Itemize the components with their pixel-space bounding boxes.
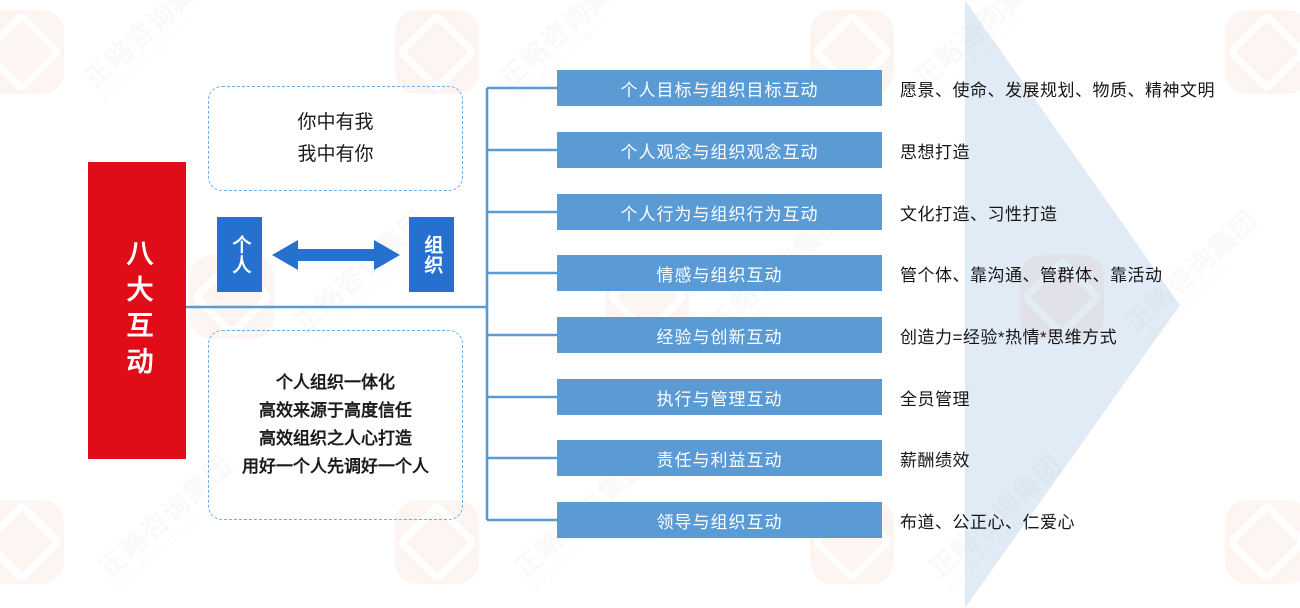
item-desc-7: 薪酬绩效	[900, 440, 970, 476]
main-title-block: 八大互动	[88, 162, 186, 459]
note-bottom-line-3: 高效组织之人心打造	[242, 425, 429, 453]
item-desc-4: 管个体、靠沟通、管群体、靠活动	[900, 255, 1163, 291]
item-desc-3: 文化打造、习性打造	[900, 194, 1058, 230]
double-headed-arrow-icon	[272, 238, 400, 272]
individual-label: 个人	[229, 235, 251, 275]
note-top-lines: 你中有我 我中有你	[297, 107, 373, 171]
item-desc-2: 思想打造	[900, 132, 970, 168]
item-box-5[interactable]: 经验与创新互动	[557, 317, 882, 353]
item-box-7[interactable]: 责任与利益互动	[557, 440, 882, 476]
organization-label: 组织	[421, 235, 443, 275]
organization-box: 组织	[409, 217, 454, 292]
note-box-bottom: 个人组织一体化 高效来源于高度信任 高效组织之人心打造 用好一个人先调好一个人	[208, 330, 463, 520]
main-title-text: 八大互动	[124, 239, 151, 383]
diagram-canvas: 正略咨询集团 ADFAITH GROUP 正略咨询集团 ADFAITH GROU…	[0, 0, 1300, 608]
item-desc-1: 愿景、使命、发展规划、物质、精神文明	[900, 70, 1215, 106]
item-desc-6: 全员管理	[900, 379, 970, 415]
item-box-3[interactable]: 个人行为与组织行为互动	[557, 194, 882, 230]
note-top-line-2: 我中有你	[297, 139, 373, 171]
item-box-4[interactable]: 情感与组织互动	[557, 255, 882, 291]
item-desc-8: 布道、公正心、仁爱心	[900, 502, 1075, 538]
item-box-2[interactable]: 个人观念与组织观念互动	[557, 132, 882, 168]
item-box-6[interactable]: 执行与管理互动	[557, 379, 882, 415]
note-bottom-lines: 个人组织一体化 高效来源于高度信任 高效组织之人心打造 用好一个人先调好一个人	[242, 369, 429, 481]
item-desc-5: 创造力=经验*热情*思维方式	[900, 317, 1117, 353]
item-box-8[interactable]: 领导与组织互动	[557, 502, 882, 538]
note-top-line-1: 你中有我	[297, 107, 373, 139]
note-bottom-line-4: 用好一个人先调好一个人	[242, 453, 429, 481]
note-box-top: 你中有我 我中有你	[208, 86, 463, 191]
individual-box: 个人	[217, 217, 262, 292]
note-bottom-line-2: 高效来源于高度信任	[242, 397, 429, 425]
item-box-1[interactable]: 个人目标与组织目标互动	[557, 70, 882, 106]
note-bottom-line-1: 个人组织一体化	[242, 369, 429, 397]
